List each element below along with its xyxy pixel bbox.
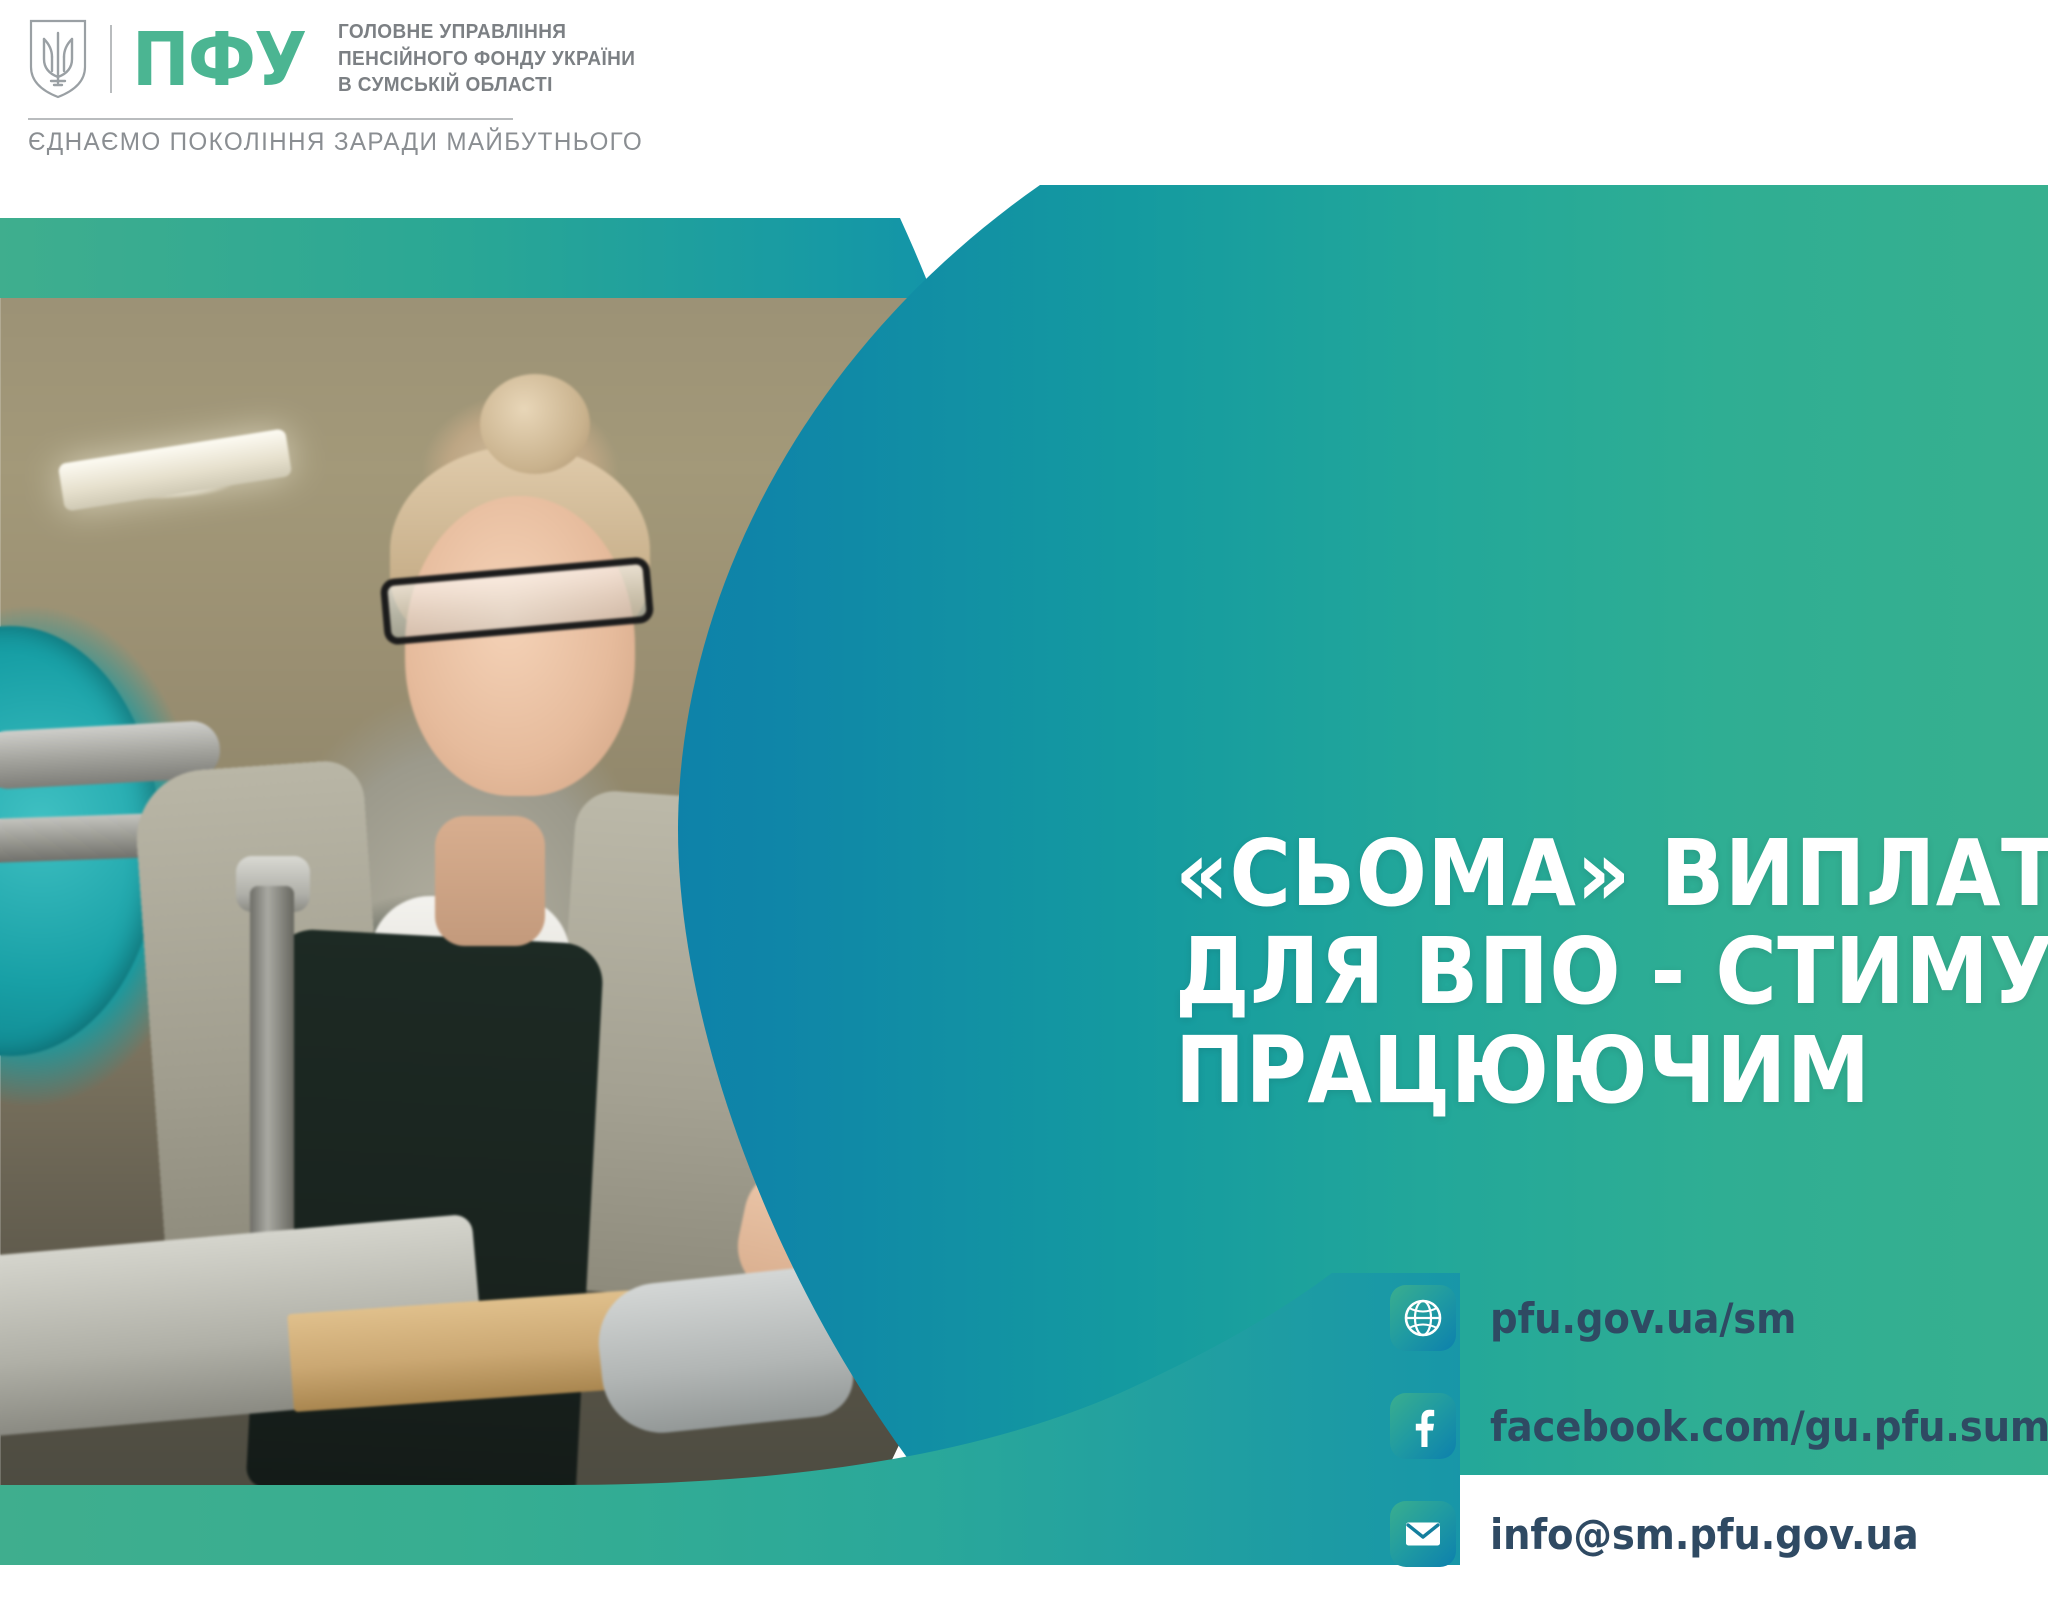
contact-row-facebook[interactable]: facebook.com/gu.pfu.sumy [1390, 1393, 2048, 1459]
headline-block: «СЬОМА» ВИПЛАТА ДЛЯ ВПО - СТИМУЛ ПРАЦЮЮЧ… [1175, 825, 1995, 1120]
website-label[interactable]: pfu.gov.ua/sm [1490, 1294, 1796, 1343]
envelope-icon [1390, 1501, 1456, 1567]
pfu-wordmark: ПФУ [132, 27, 305, 94]
facebook-icon [1390, 1393, 1456, 1459]
contact-list: pfu.gov.ua/sm facebook.com/gu.pfu.sumy i… [1390, 1285, 2048, 1567]
hair-bun-shape [480, 374, 590, 474]
face-shape [405, 496, 635, 796]
brand-tagline: ЄДНАЄМО ПОКОЛІННЯ ЗАРАДИ МАЙБУТНЬОГО [28, 128, 643, 157]
headline-line-3: ПРАЦЮЮЧИМ [1175, 1022, 1921, 1120]
contact-row-email[interactable]: info@sm.pfu.gov.ua [1390, 1501, 2048, 1567]
headline-line-2: ДЛЯ ВПО - СТИМУЛ [1175, 923, 1921, 1021]
logo-divider [110, 25, 112, 93]
org-line-3: В СУМСЬКІЙ ОБЛАСТІ [338, 73, 635, 97]
org-line-1: ГОЛОВНЕ УПРАВЛІННЯ [338, 20, 635, 44]
brand-header: ПФУ ГОЛОВНЕ УПРАВЛІННЯ ПЕНСІЙНОГО ФОНДУ … [0, 0, 2048, 185]
ceiling-light-shape [58, 428, 293, 511]
tagline-divider [28, 118, 513, 120]
hero-stage: «СЬОМА» ВИПЛАТА ДЛЯ ВПО - СТИМУЛ ПРАЦЮЮЧ… [0, 185, 2048, 1613]
ukraine-trident-icon [28, 19, 88, 99]
facebook-label[interactable]: facebook.com/gu.pfu.sumy [1490, 1402, 2048, 1451]
org-line-2: ПЕНСІЙНОГО ФОНДУ УКРАЇНИ [338, 47, 635, 71]
neck-shape [435, 816, 545, 946]
contact-row-website[interactable]: pfu.gov.ua/sm [1390, 1285, 2048, 1351]
organisation-name: ГОЛОВНЕ УПРАВЛІННЯ ПЕНСІЙНОГО ФОНДУ УКРА… [338, 20, 651, 97]
logo-lockup: ПФУ ГОЛОВНЕ УПРАВЛІННЯ ПЕНСІЙНОГО ФОНДУ … [28, 18, 651, 100]
email-label[interactable]: info@sm.pfu.gov.ua [1490, 1510, 1919, 1559]
headline-line-1: «СЬОМА» ВИПЛАТА [1175, 825, 1921, 923]
globe-www-icon [1390, 1285, 1456, 1351]
